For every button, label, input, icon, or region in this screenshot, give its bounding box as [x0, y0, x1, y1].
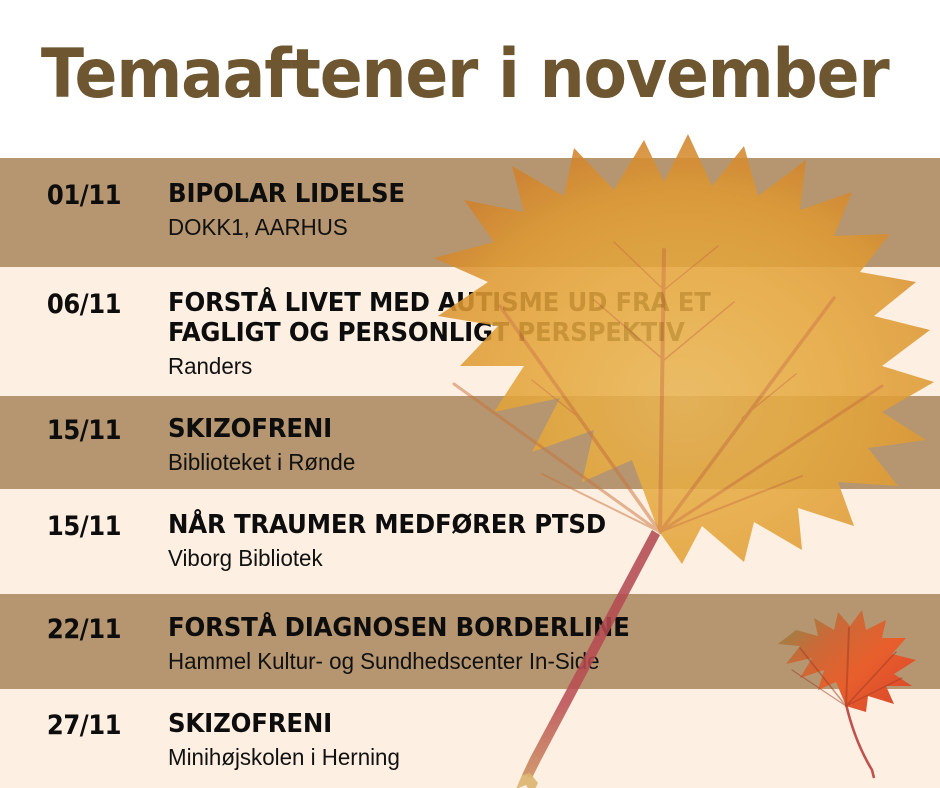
event-venue: Minihøjskolen i Herning: [168, 744, 907, 772]
event-venue: Viborg Bibliotek: [168, 545, 907, 573]
event-body: FORSTÅ DIAGNOSEN BORDERLINE Hammel Kultu…: [168, 614, 940, 675]
event-body: SKIZOFRENI Biblioteket i Rønde: [168, 415, 940, 476]
poster-header: Temaaftener i november: [0, 0, 940, 158]
page-title: Temaaftener i november: [0, 41, 889, 117]
event-title: SKIZOFRENI: [168, 710, 884, 740]
event-body: BIPOLAR LIDELSE DOKK1, AARHUS: [168, 180, 940, 241]
event-date: 15/11: [8, 511, 159, 542]
event-title: SKIZOFRENI: [168, 415, 884, 445]
event-title: NÅR TRAUMER MEDFØRER PTSD: [168, 511, 884, 541]
event-title: FORSTÅ LIVET MED AUTISME UD FRA ET FAGLI…: [168, 289, 884, 349]
poster-canvas: Temaaftener i november 01/11 BIPOLAR LID…: [0, 0, 940, 788]
list-item[interactable]: 27/11 SKIZOFRENI Minihøjskolen i Herning: [0, 689, 940, 788]
event-venue: Biblioteket i Rønde: [168, 449, 907, 477]
event-date: 01/11: [8, 180, 159, 211]
event-body: SKIZOFRENI Minihøjskolen i Herning: [168, 710, 940, 771]
event-venue: Randers: [168, 353, 907, 381]
schedule-list: 01/11 BIPOLAR LIDELSE DOKK1, AARHUS 06/1…: [0, 158, 940, 788]
event-venue: Hammel Kultur- og Sundhedscenter In-Side: [168, 648, 907, 676]
event-body: FORSTÅ LIVET MED AUTISME UD FRA ET FAGLI…: [168, 289, 940, 380]
list-item[interactable]: 22/11 FORSTÅ DIAGNOSEN BORDERLINE Hammel…: [0, 594, 940, 689]
list-item[interactable]: 15/11 NÅR TRAUMER MEDFØRER PTSD Viborg B…: [0, 489, 940, 594]
event-date: 22/11: [8, 614, 159, 645]
event-date: 27/11: [8, 710, 159, 741]
event-venue: DOKK1, AARHUS: [168, 214, 907, 242]
list-item[interactable]: 15/11 SKIZOFRENI Biblioteket i Rønde: [0, 396, 940, 489]
event-body: NÅR TRAUMER MEDFØRER PTSD Viborg Bibliot…: [168, 511, 940, 572]
event-title: FORSTÅ DIAGNOSEN BORDERLINE: [168, 614, 884, 644]
event-date: 06/11: [8, 289, 159, 320]
list-item[interactable]: 01/11 BIPOLAR LIDELSE DOKK1, AARHUS: [0, 158, 940, 267]
event-date: 15/11: [8, 415, 159, 446]
event-title: BIPOLAR LIDELSE: [168, 180, 884, 210]
list-item[interactable]: 06/11 FORSTÅ LIVET MED AUTISME UD FRA ET…: [0, 267, 940, 396]
